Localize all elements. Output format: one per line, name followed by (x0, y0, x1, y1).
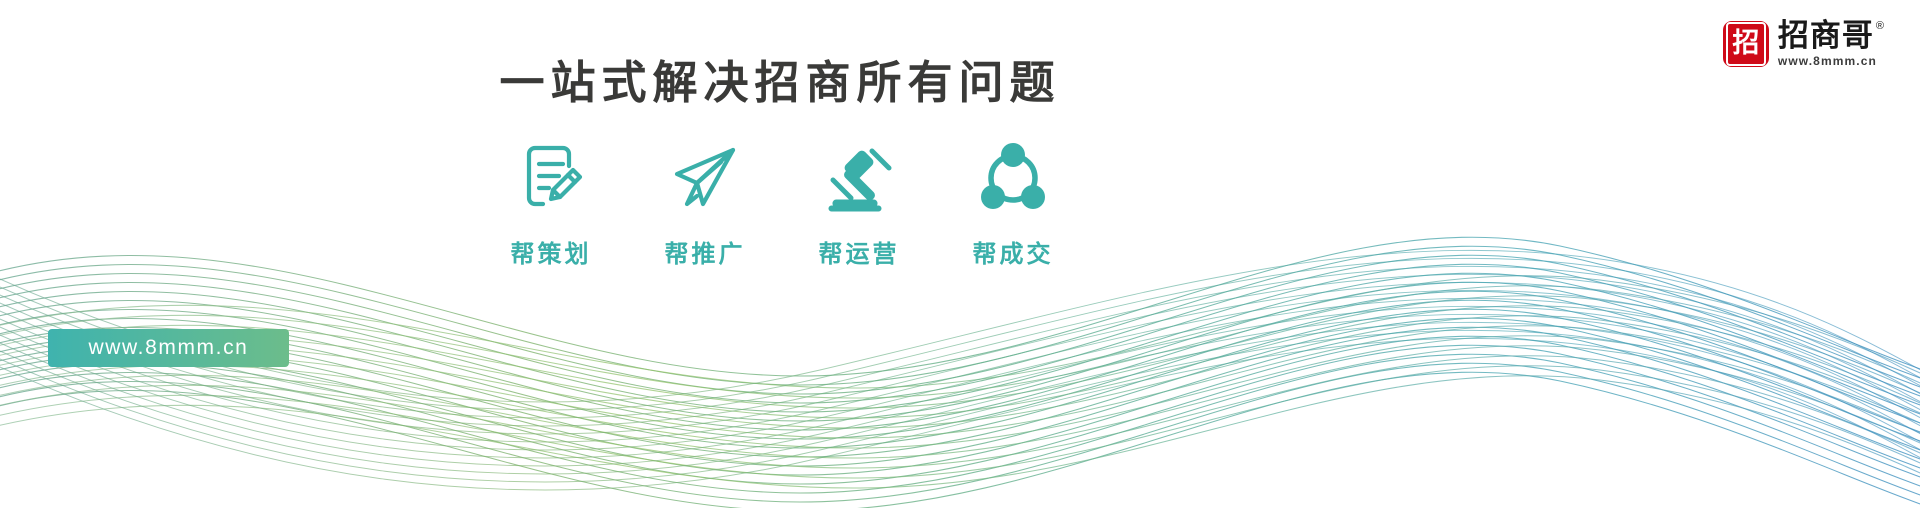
logo-url: www.8mmm.cn (1778, 54, 1884, 68)
feature-item-promotion[interactable]: 帮推广 (646, 134, 764, 269)
logo-mark-character: 招 (1726, 22, 1766, 66)
gavel-icon (819, 134, 899, 218)
paper-plane-icon (665, 134, 745, 218)
feature-label: 帮推广 (665, 234, 746, 269)
feature-item-operations[interactable]: 帮运营 (800, 134, 918, 269)
feature-item-closing[interactable]: 帮成交 (954, 134, 1072, 269)
feature-label: 帮成交 (973, 234, 1054, 269)
logo-wordmark: 招商哥 (1778, 20, 1874, 52)
feature-label: 帮策划 (511, 234, 592, 269)
logo-wordmark-row: 招商哥 ® (1778, 20, 1884, 52)
page-title: 一站式解决招商所有问题 (0, 56, 1560, 110)
network-nodes-icon (973, 134, 1053, 218)
logo-text-block: 招商哥 ® www.8mmm.cn (1778, 20, 1884, 68)
website-url-badge[interactable]: www.8mmm.cn (48, 329, 289, 367)
feature-list: 帮策划 帮推广 (492, 134, 1072, 269)
registered-trademark-icon: ® (1876, 21, 1884, 32)
brand-logo[interactable]: 招 招商哥 ® www.8mmm.cn (1723, 20, 1884, 68)
website-url-text: www.8mmm.cn (89, 336, 249, 360)
document-pencil-icon (511, 134, 591, 218)
feature-item-planning[interactable]: 帮策划 (492, 134, 610, 269)
feature-label: 帮运营 (819, 234, 900, 269)
logo-mark: 招 (1723, 21, 1769, 67)
promo-banner: 招 招商哥 ® www.8mmm.cn 一站式解决招商所有问题 (0, 0, 1920, 508)
